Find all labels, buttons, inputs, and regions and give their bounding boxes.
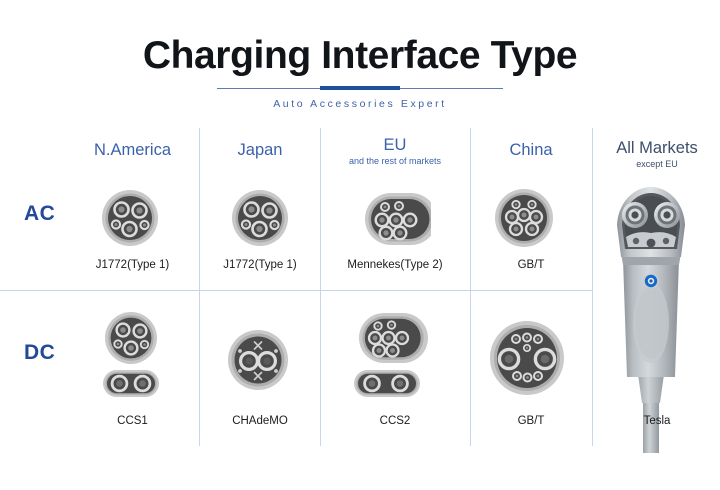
ccs1-connector [102, 311, 160, 398]
column-header-label: N.America [70, 141, 195, 160]
connector-caption: J1772(Type 1) [205, 259, 315, 271]
connector-caption: GB/T [476, 415, 586, 427]
column-header-sublabel: and the rest of markets [325, 156, 465, 166]
column-header-all-markets: All Markets except EU [598, 139, 716, 169]
column-divider-1 [199, 128, 200, 446]
column-header-north-america: N.America [70, 141, 195, 160]
column-divider-2 [320, 128, 321, 446]
connector-caption: Mennekes(Type 2) [325, 259, 465, 271]
title-accent-underline [217, 86, 503, 92]
page-title: Charging Interface Type [0, 36, 720, 77]
accent-bold-segment [320, 86, 400, 90]
connector-caption: Tesla [598, 415, 716, 427]
header-block: Charging Interface Type Auto Accessories… [0, 36, 720, 110]
row-divider-ac-dc [0, 290, 592, 291]
connector-caption: CCS1 [70, 415, 195, 427]
j1772-type1-connector [231, 189, 289, 247]
connector-caption: CCS2 [325, 415, 465, 427]
page-subtitle: Auto Accessories Expert [0, 98, 720, 110]
mennekes-type2-connector [359, 191, 431, 247]
column-header-japan: Japan [205, 141, 315, 160]
connector-caption: CHAdeMO [205, 415, 315, 427]
column-divider-3 [470, 128, 471, 446]
ccs2-connector [353, 311, 433, 398]
gbt-dc-connector [489, 320, 565, 396]
column-header-label: EU [325, 136, 465, 155]
connector-caption: J1772(Type 1) [70, 259, 195, 271]
gbt-ac-connector [494, 188, 554, 248]
column-header-eu: EU and the rest of markets [325, 136, 465, 166]
chademo-connector [227, 329, 289, 391]
j1772-type1-connector [101, 189, 159, 247]
column-header-label: All Markets [598, 139, 716, 158]
tesla-connector [601, 181, 701, 453]
connector-caption: GB/T [476, 259, 586, 271]
column-header-china: China [476, 141, 586, 160]
row-label-ac: AC [24, 202, 55, 226]
column-divider-4 [592, 128, 593, 446]
row-label-dc: DC [24, 341, 55, 365]
column-header-sublabel: except EU [598, 159, 716, 169]
column-header-label: Japan [205, 141, 315, 160]
column-header-label: China [476, 141, 586, 160]
